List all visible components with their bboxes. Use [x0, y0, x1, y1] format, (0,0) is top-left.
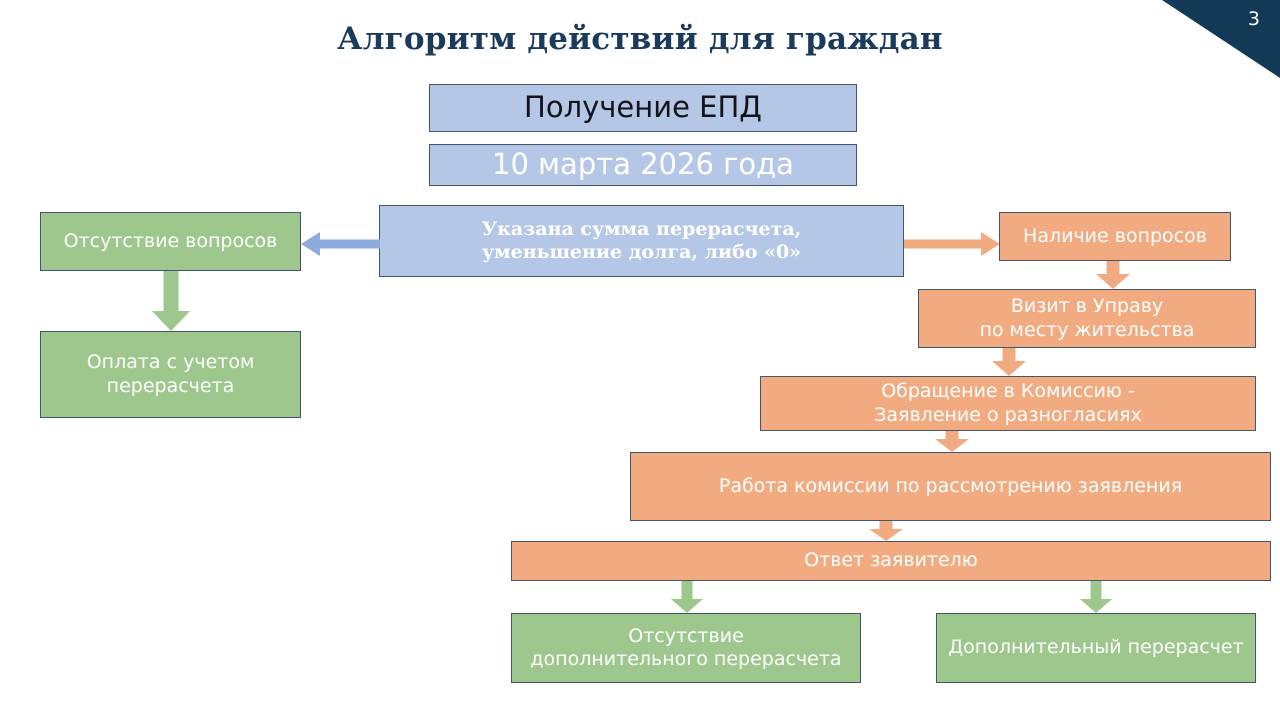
arrow-head: [1096, 274, 1130, 289]
node-no-extra-text: Отсутствие дополнительного перерасчета: [512, 625, 860, 671]
node-date[interactable]: 10 марта 2026 года: [429, 144, 857, 186]
arrow-shaft: [164, 271, 179, 313]
arrow-head: [992, 361, 1026, 376]
arrow-center-to-no-questions: [301, 232, 380, 256]
node-commission-request-text: Обращение в Комиссию - Заявление о разно…: [761, 380, 1255, 426]
arrow-answer-to-no-extra: [671, 581, 703, 613]
arrow-head: [935, 439, 969, 452]
node-payment-line1: Оплата с учетом: [87, 351, 255, 373]
node-date-label: 10 марта 2026 года: [430, 147, 856, 182]
arrow-head: [981, 232, 1000, 256]
arrow-has-questions-to-visit: [1096, 261, 1130, 289]
node-center-line2: уменьшение долга, либо «0»: [482, 241, 801, 263]
node-commission-request-line1: Обращение в Комиссию -: [881, 380, 1135, 402]
arrow-shaft: [946, 431, 959, 439]
arrow-head: [152, 311, 190, 331]
node-payment[interactable]: Оплата с учетом перерасчета: [40, 331, 301, 418]
node-visit-text: Визит в Управу по месту жительства: [919, 295, 1255, 341]
arrow-work-to-answer: [869, 521, 903, 541]
arrow-head: [1080, 599, 1112, 613]
node-visit-uprava[interactable]: Визит в Управу по месту жительства: [918, 289, 1256, 348]
slide-canvas: 3 Алгоритм действий для граждан Получени…: [0, 0, 1280, 719]
arrow-shaft: [1091, 581, 1102, 600]
node-no-questions[interactable]: Отсутствие вопросов: [40, 212, 301, 271]
arrow-head: [301, 232, 320, 256]
node-commission-work[interactable]: Работа комиссии по рассмотрению заявлени…: [630, 452, 1271, 521]
node-extra-recalculation[interactable]: Дополнительный перерасчет: [936, 613, 1256, 683]
node-commission-request[interactable]: Обращение в Комиссию - Заявление о разно…: [760, 376, 1256, 431]
node-answer[interactable]: Ответ заявителю: [511, 541, 1271, 581]
node-commission-request-line2: Заявление о разногласиях: [874, 404, 1142, 426]
arrow-no-questions-to-payment: [152, 271, 190, 331]
node-has-questions-label: Наличие вопросов: [1000, 225, 1230, 248]
arrow-shaft: [1107, 261, 1120, 275]
arrow-commission-request-to-work: [935, 431, 969, 452]
node-center-statement[interactable]: Указана сумма перерасчета, уменьшение до…: [379, 205, 904, 277]
node-answer-label: Ответ заявителю: [512, 549, 1270, 572]
node-has-questions[interactable]: Наличие вопросов: [999, 212, 1231, 261]
node-commission-work-label: Работа комиссии по рассмотрению заявлени…: [631, 475, 1270, 498]
node-no-extra-line1: Отсутствие: [628, 625, 744, 647]
arrow-head: [671, 599, 703, 613]
node-no-questions-label: Отсутствие вопросов: [41, 230, 300, 253]
node-visit-line1: Визит в Управу: [1011, 295, 1163, 317]
node-center-line1: Указана сумма перерасчета,: [482, 218, 802, 240]
arrow-shaft: [904, 240, 982, 249]
arrow-answer-to-extra: [1080, 581, 1112, 613]
node-receipt-label: Получение ЕПД: [430, 90, 856, 125]
arrow-shaft: [880, 521, 893, 529]
node-center-text: Указана сумма перерасчета, уменьшение до…: [380, 218, 903, 264]
node-receipt[interactable]: Получение ЕПД: [429, 84, 857, 132]
arrow-head: [869, 529, 903, 541]
node-visit-line2: по месту жительства: [980, 319, 1195, 341]
node-payment-line2: перерасчета: [107, 375, 235, 397]
arrow-shaft: [1003, 348, 1016, 362]
node-no-extra-recalculation[interactable]: Отсутствие дополнительного перерасчета: [511, 613, 861, 683]
node-extra-label: Дополнительный перерасчет: [937, 636, 1255, 659]
node-payment-text: Оплата с учетом перерасчета: [41, 351, 300, 397]
arrow-visit-to-commission-request: [992, 348, 1026, 376]
node-no-extra-line2: дополнительного перерасчета: [530, 648, 841, 670]
arrow-shaft: [682, 581, 693, 600]
page-title: Алгоритм действий для граждан: [0, 21, 1280, 57]
arrow-shaft: [319, 240, 380, 249]
arrow-center-to-has-questions: [904, 232, 1000, 256]
